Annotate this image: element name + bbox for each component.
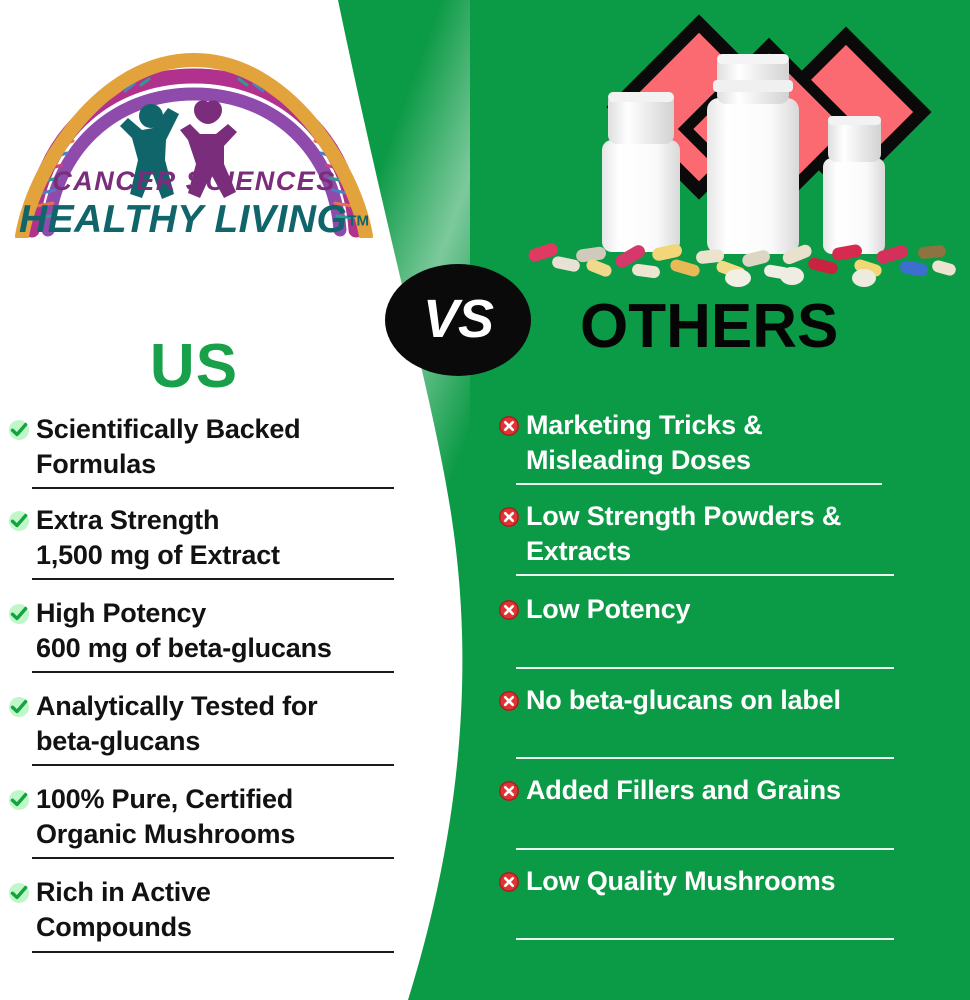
list-item-line1: Low Potency xyxy=(526,594,690,624)
cross-circle-icon xyxy=(498,690,520,712)
list-item-label: Added Fillers and Grains xyxy=(526,773,841,808)
us-benefits-list: Scientifically BackedFormulasExtra Stren… xyxy=(8,412,400,965)
list-item-line2: Organic Mushrooms xyxy=(36,819,295,849)
brand-logo: CANCER SCIENCES HEALTHY LIVINGTM US xyxy=(8,48,380,273)
cross-circle-icon xyxy=(498,599,520,621)
list-item-label: Scientifically BackedFormulas xyxy=(36,412,300,481)
list-item-row: Scientifically BackedFormulas xyxy=(8,412,400,481)
list-item: Low Potency xyxy=(498,592,918,669)
list-item-divider xyxy=(32,764,394,766)
list-item-row: High Potency600 mg of beta-glucans xyxy=(8,596,400,665)
list-item: Added Fillers and Grains xyxy=(498,773,918,850)
list-item-line1: Extra Strength xyxy=(36,505,219,535)
list-item-line1: Low Strength Powders & xyxy=(526,501,841,531)
list-item-label: Analytically Tested forbeta-glucans xyxy=(36,689,317,758)
list-item-line2: 1,500 mg of Extract xyxy=(36,540,280,570)
list-item: Marketing Tricks &Misleading Doses xyxy=(498,408,918,485)
list-item-line1: No beta-glucans on label xyxy=(526,685,841,715)
list-item: Analytically Tested forbeta-glucans xyxy=(8,689,400,766)
list-item-line1: Scientifically Backed xyxy=(36,414,300,444)
check-circle-icon xyxy=(8,882,30,904)
logo-healthy-living: HEALTHY LIVING xyxy=(19,198,347,241)
others-heading: OTHERS xyxy=(580,296,940,358)
cross-circle-icon xyxy=(498,780,520,802)
list-item-line1: Analytically Tested for xyxy=(36,691,317,721)
list-item-line2: Extracts xyxy=(526,536,631,566)
check-circle-icon xyxy=(8,696,30,718)
list-item-label: High Potency600 mg of beta-glucans xyxy=(36,596,332,665)
list-item: Scientifically BackedFormulas xyxy=(8,412,400,489)
list-item-row: Analytically Tested forbeta-glucans xyxy=(8,689,400,758)
others-product-artwork xyxy=(520,10,960,290)
list-item-label: Marketing Tricks &Misleading Doses xyxy=(526,408,763,477)
bottle-right xyxy=(823,116,885,254)
list-item-divider xyxy=(32,857,394,859)
cross-circle-icon xyxy=(498,871,520,893)
list-item-label: Low Potency xyxy=(526,592,690,627)
list-item-line1: Added Fillers and Grains xyxy=(526,775,841,805)
cross-circle-icon xyxy=(498,415,520,437)
check-circle-icon xyxy=(8,510,30,532)
logo-text-line1: CANCER SCIENCES xyxy=(8,166,380,197)
list-item: Low Strength Powders &Extracts xyxy=(498,499,918,576)
trademark-symbol: TM xyxy=(347,213,369,230)
bottle-left xyxy=(602,92,680,252)
list-item-divider xyxy=(32,578,394,580)
list-item-divider xyxy=(516,483,882,485)
us-heading: US xyxy=(8,336,380,398)
list-item-divider xyxy=(516,938,894,940)
vs-badge: VS xyxy=(385,264,531,376)
list-item: Extra Strength1,500 mg of Extract xyxy=(8,503,400,580)
vs-label: VS xyxy=(423,292,493,346)
list-item-label: Extra Strength1,500 mg of Extract xyxy=(36,503,280,572)
list-item-divider xyxy=(32,487,394,489)
list-item-line1: Marketing Tricks & xyxy=(526,410,763,440)
list-item-row: Low Strength Powders &Extracts xyxy=(498,499,918,568)
list-item: 100% Pure, CertifiedOrganic Mushrooms xyxy=(8,782,400,859)
list-item: Low Quality Mushrooms xyxy=(498,864,918,941)
logo-text-line2: HEALTHY LIVINGTM xyxy=(8,198,380,242)
check-circle-icon xyxy=(8,603,30,625)
list-item-line2: beta-glucans xyxy=(36,726,200,756)
list-item-line2: Misleading Doses xyxy=(526,445,751,475)
bottle-center xyxy=(707,54,799,254)
infographic-canvas: OTHERS xyxy=(0,0,970,1000)
list-item-row: No beta-glucans on label xyxy=(498,683,918,718)
list-item-line1: Low Quality Mushrooms xyxy=(526,866,835,896)
list-item: Rich in ActiveCompounds xyxy=(8,875,400,952)
list-item-line2: 600 mg of beta-glucans xyxy=(36,633,332,663)
list-item-line1: 100% Pure, Certified xyxy=(36,784,293,814)
list-item-row: Extra Strength1,500 mg of Extract xyxy=(8,503,400,572)
logo-cancer-sciences: CANCER SCIENCES xyxy=(52,166,336,196)
list-item-line1: High Potency xyxy=(36,598,206,628)
list-item-label: Low Quality Mushrooms xyxy=(526,864,835,899)
list-item-divider xyxy=(516,848,894,850)
list-item-row: 100% Pure, CertifiedOrganic Mushrooms xyxy=(8,782,400,851)
check-circle-icon xyxy=(8,789,30,811)
cross-circle-icon xyxy=(498,506,520,528)
list-item-line1: Rich in Active xyxy=(36,877,211,907)
list-item-label: No beta-glucans on label xyxy=(526,683,841,718)
list-item-row: Rich in ActiveCompounds xyxy=(8,875,400,944)
list-item-label: Rich in ActiveCompounds xyxy=(36,875,211,944)
list-item-divider xyxy=(516,667,894,669)
others-drawbacks-list: Marketing Tricks &Misleading DosesLow St… xyxy=(498,408,918,952)
list-item: High Potency600 mg of beta-glucans xyxy=(8,596,400,673)
list-item-label: 100% Pure, CertifiedOrganic Mushrooms xyxy=(36,782,295,851)
list-item-line2: Formulas xyxy=(36,449,156,479)
check-circle-icon xyxy=(8,419,30,441)
bottles-illustration xyxy=(520,10,960,290)
list-item-divider xyxy=(516,574,894,576)
list-item-row: Added Fillers and Grains xyxy=(498,773,918,808)
list-item: No beta-glucans on label xyxy=(498,683,918,760)
list-item-row: Low Quality Mushrooms xyxy=(498,864,918,899)
list-item-line2: Compounds xyxy=(36,912,192,942)
list-item-divider xyxy=(516,757,894,759)
list-item-divider xyxy=(32,951,394,953)
list-item-label: Low Strength Powders &Extracts xyxy=(526,499,841,568)
list-item-row: Marketing Tricks &Misleading Doses xyxy=(498,408,918,477)
list-item-row: Low Potency xyxy=(498,592,918,627)
list-item-divider xyxy=(32,671,394,673)
